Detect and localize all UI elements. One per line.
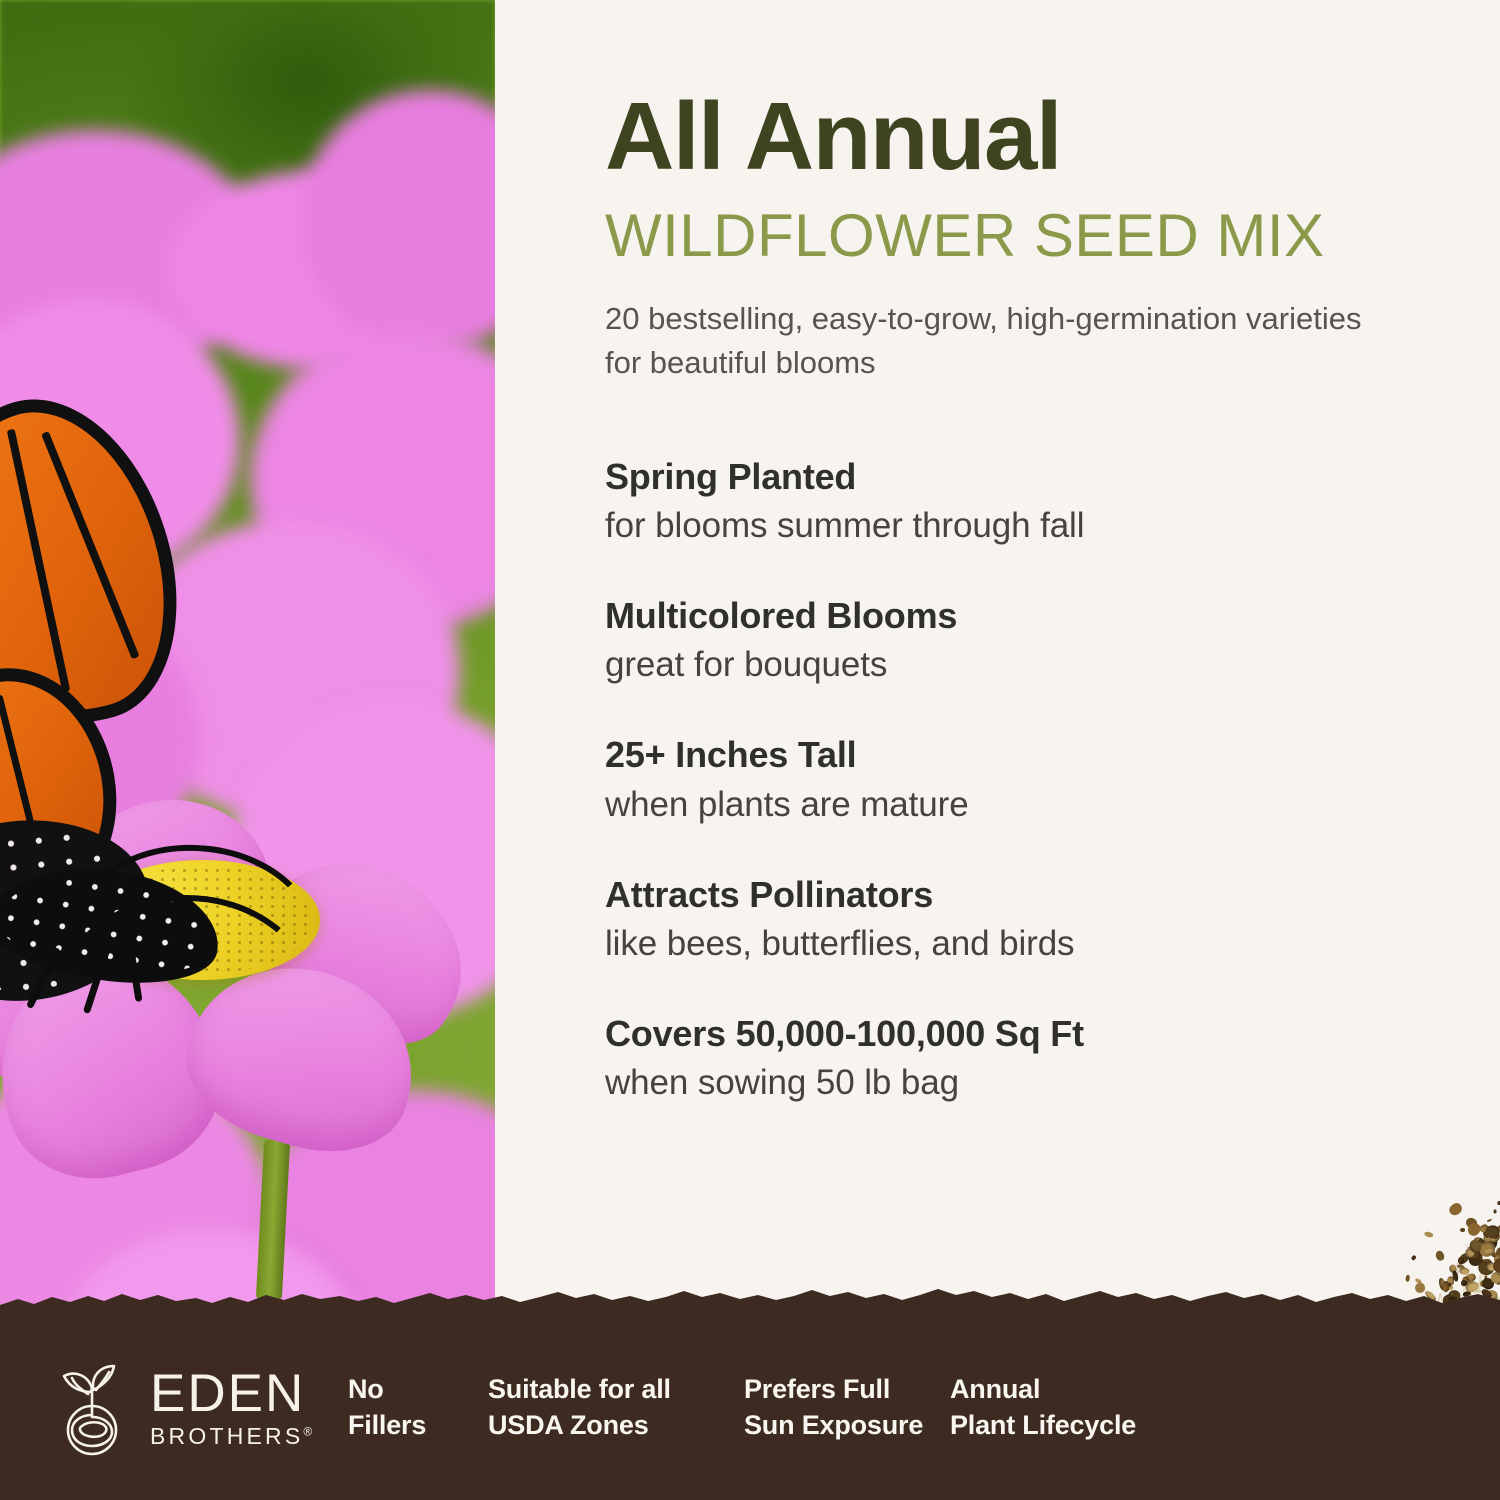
footer-bar: EDEN BROTHERS® No Fillers Suitable for a… <box>0 1315 1500 1500</box>
badge-sun-exposure: Prefers Full Sun Exposure <box>744 1372 950 1443</box>
feature-item: 25+ Inches Tall when plants are mature <box>605 733 1500 825</box>
logo-wordmark: EDEN BROTHERS® <box>150 1367 312 1448</box>
logo-eden-text: EDEN <box>150 1367 312 1420</box>
product-infographic: All Annual WILDFLOWER SEED MIX 20 bestse… <box>0 0 1500 1500</box>
feature-subtitle: great for bouquets <box>605 644 1500 686</box>
feature-item: Covers 50,000-100,000 Sq Ft when sowing … <box>605 1012 1500 1104</box>
feature-title: Covers 50,000-100,000 Sq Ft <box>605 1012 1500 1055</box>
logo-brothers-label: BROTHERS <box>150 1423 303 1449</box>
badge-plant-lifecycle: Annual Plant Lifecycle <box>950 1372 1190 1443</box>
badge-usda-zones: Suitable for all USDA Zones <box>488 1372 744 1443</box>
page-subtitle: WILDFLOWER SEED MIX <box>605 204 1500 267</box>
feature-item: Multicolored Blooms great for bouquets <box>605 594 1500 686</box>
feature-list: Spring Planted for blooms summer through… <box>605 455 1500 1104</box>
monarch-butterfly <box>0 390 340 950</box>
flower-stem <box>256 1139 290 1300</box>
page-lede: 20 bestselling, easy-to-grow, high-germi… <box>605 297 1395 385</box>
sprout-seed-icon <box>48 1358 140 1458</box>
feature-title: 25+ Inches Tall <box>605 733 1500 776</box>
feature-item: Attracts Pollinators like bees, butterfl… <box>605 873 1500 965</box>
badge-no-fillers: No Fillers <box>348 1372 488 1443</box>
feature-subtitle: for blooms summer through fall <box>605 505 1500 547</box>
footer-badges: No Fillers Suitable for all USDA Zones P… <box>348 1372 1190 1443</box>
feature-subtitle: when sowing 50 lb bag <box>605 1062 1500 1104</box>
torn-soil-edge <box>0 1285 1500 1319</box>
feature-title: Attracts Pollinators <box>605 873 1500 916</box>
feature-item: Spring Planted for blooms summer through… <box>605 455 1500 547</box>
logo-brothers-text: BROTHERS® <box>150 1425 312 1448</box>
feature-title: Multicolored Blooms <box>605 594 1500 637</box>
hero-photo-butterfly-on-cosmos <box>0 0 495 1345</box>
footer-content: EDEN BROTHERS® No Fillers Suitable for a… <box>0 1315 1500 1500</box>
eden-brothers-logo[interactable]: EDEN BROTHERS® <box>48 1358 328 1458</box>
feature-title: Spring Planted <box>605 455 1500 498</box>
feature-subtitle: like bees, butterflies, and birds <box>605 923 1500 965</box>
page-title: All Annual <box>605 88 1500 186</box>
content-column: All Annual WILDFLOWER SEED MIX 20 bestse… <box>495 0 1500 1345</box>
registered-trademark-icon: ® <box>303 1424 312 1438</box>
feature-subtitle: when plants are mature <box>605 784 1500 826</box>
